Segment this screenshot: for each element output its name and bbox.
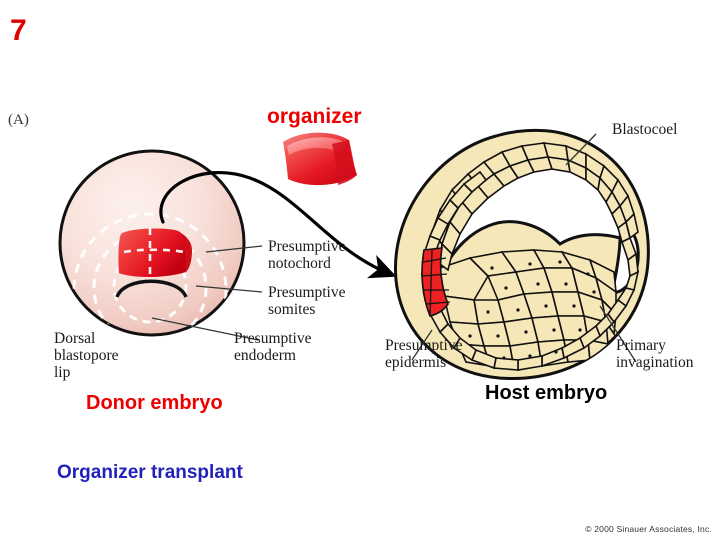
label-blastocoel: Blastocoel: [612, 121, 677, 138]
label-dorsal-blastopore-lip-line1: Dorsal: [54, 330, 119, 347]
slide-number: 7: [10, 14, 27, 48]
organizer-label: organizer: [267, 105, 362, 129]
label-presumptive-notochord-line2: notochord: [268, 255, 346, 272]
label-dorsal-blastopore-lip-line2: blastopore: [54, 347, 119, 364]
label-presumptive-somites: Presumptive somites: [268, 284, 346, 318]
donor-embryo-caption: Donor embryo: [86, 392, 223, 415]
label-presumptive-somites-line1: Presumptive: [268, 284, 346, 301]
label-primary-invagination-line2: invagination: [616, 354, 694, 371]
organizer-transplant-title: Organizer transplant: [57, 462, 243, 484]
label-primary-invagination-line1: Primary: [616, 337, 694, 354]
label-dorsal-blastopore-lip: Dorsal blastopore lip: [54, 330, 119, 381]
figure-artwork: [0, 0, 720, 540]
label-presumptive-endoderm-line1: Presumptive: [234, 330, 312, 347]
host-embryo-caption: Host embryo: [485, 382, 607, 405]
label-presumptive-epidermis-line2: epidermis: [385, 354, 463, 371]
label-presumptive-epidermis: Presumptive epidermis: [385, 337, 463, 371]
slide-canvas: 7 (A) organizer Donor embryo Host embryo…: [0, 0, 720, 540]
label-dorsal-blastopore-lip-line3: lip: [54, 364, 119, 381]
label-presumptive-endoderm-line2: endoderm: [234, 347, 312, 364]
label-presumptive-epidermis-line1: Presumptive: [385, 337, 463, 354]
label-presumptive-notochord-line1: Presumptive: [268, 238, 346, 255]
excised-organizer-tissue: [283, 133, 357, 185]
label-primary-invagination: Primary invagination: [616, 337, 694, 371]
label-presumptive-notochord: Presumptive notochord: [268, 238, 346, 272]
panel-label: (A): [8, 112, 29, 129]
label-blastocoel-line1: Blastocoel: [612, 121, 677, 138]
copyright-notice: © 2000 Sinauer Associates, Inc.: [585, 524, 712, 534]
label-presumptive-endoderm: Presumptive endoderm: [234, 330, 312, 364]
label-presumptive-somites-line2: somites: [268, 301, 346, 318]
donor-organizer-region: [118, 228, 192, 277]
